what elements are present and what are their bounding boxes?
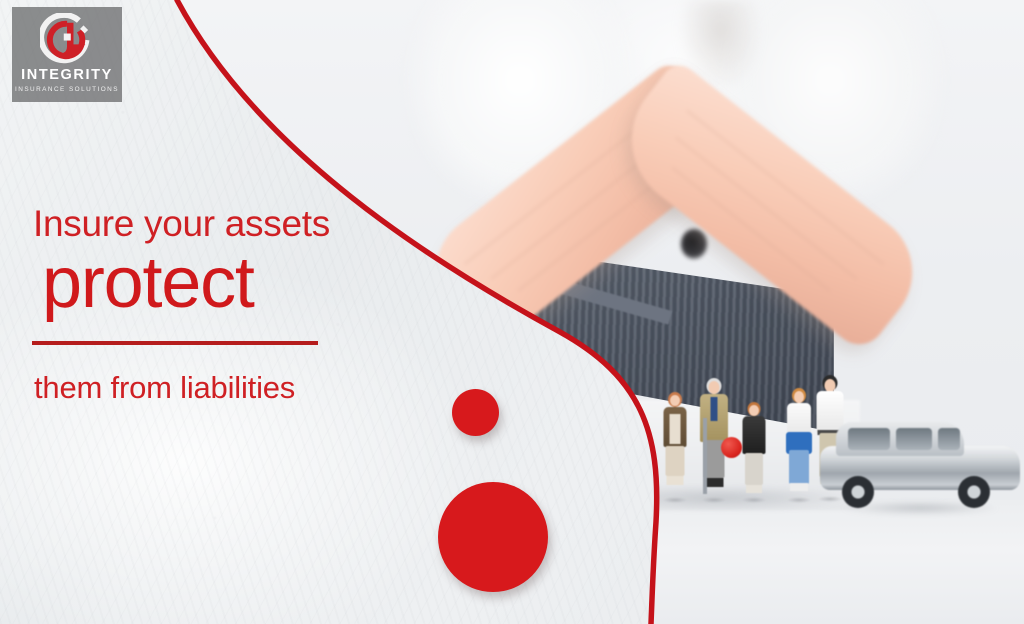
red-dot-small: [452, 389, 499, 436]
headline-line-3: them from liabilities: [34, 372, 453, 405]
red-dot-large: [438, 482, 548, 592]
headline-line-1: Insure your assets: [33, 205, 453, 243]
headline-line-2-protect: protect: [42, 247, 453, 319]
insurance-banner: INTEGRITY INSURANCE SOLUTIONS Insure you…: [0, 0, 1024, 624]
logo-tagline: INSURANCE SOLUTIONS: [15, 87, 119, 93]
logo[interactable]: INTEGRITY INSURANCE SOLUTIONS: [12, 7, 122, 102]
logo-name: INTEGRITY: [21, 68, 113, 83]
headline-divider: [32, 341, 318, 345]
headline-block: Insure your assets protect them from lia…: [33, 205, 453, 404]
integrity-circle-monogram-icon: [40, 13, 94, 67]
